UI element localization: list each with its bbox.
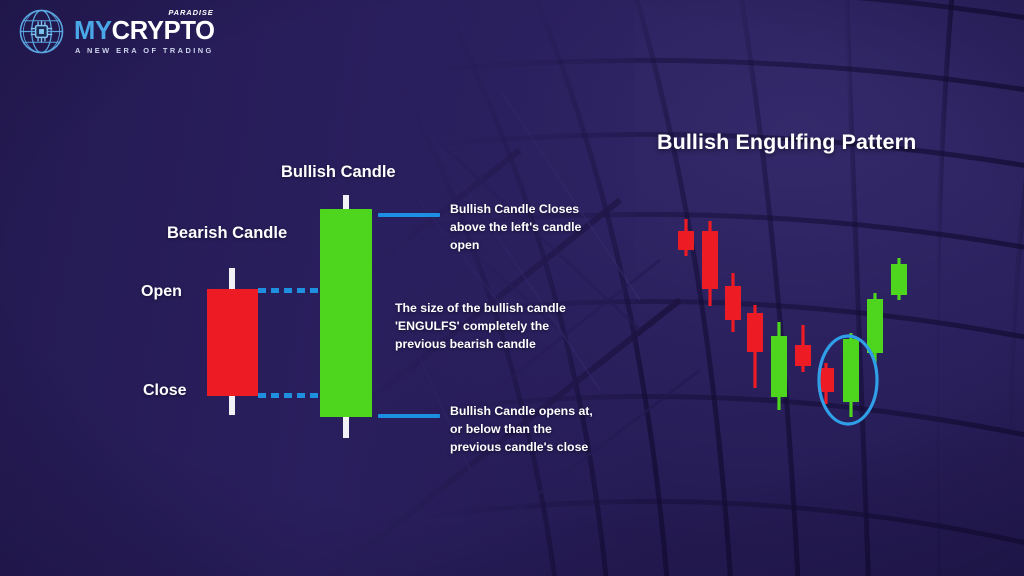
candle-body bbox=[867, 299, 883, 353]
candle-body bbox=[678, 231, 694, 250]
candle-body bbox=[795, 345, 811, 366]
close-level-dashed-line bbox=[258, 393, 321, 398]
bottom-annotation-connector bbox=[378, 414, 440, 418]
candle-body bbox=[891, 264, 907, 295]
candlestick-chart bbox=[650, 195, 950, 440]
close-label: Close bbox=[143, 382, 187, 400]
candle-body bbox=[843, 339, 859, 402]
top-annotation-connector bbox=[378, 213, 440, 217]
candle-body bbox=[702, 231, 718, 289]
annotation-middle-text: The size of the bullish candle 'ENGULFS'… bbox=[395, 299, 600, 353]
bullish-candle-body bbox=[320, 209, 372, 417]
bearish-candle-label: Bearish Candle bbox=[167, 224, 287, 243]
page-title: Bullish Engulfing Pattern bbox=[657, 130, 916, 155]
bullish-candle-lower-wick bbox=[343, 414, 349, 438]
annotation-bottom-text: Bullish Candle opens at, or below than t… bbox=[450, 402, 600, 456]
candle-body bbox=[725, 286, 741, 320]
annotation-top-text: Bullish Candle Closes above the left's c… bbox=[450, 200, 610, 254]
candle-body bbox=[771, 336, 787, 397]
bearish-candle-body bbox=[207, 289, 258, 396]
candle-body bbox=[747, 313, 763, 352]
open-level-dashed-line bbox=[258, 288, 321, 293]
bearish-candle-lower-wick bbox=[229, 393, 235, 415]
slide-canvas: PARADISE MYCRYPTO A NEW ERA OF TRADING B… bbox=[0, 0, 1024, 576]
bullish-candle-label: Bullish Candle bbox=[281, 163, 396, 182]
open-label: Open bbox=[141, 283, 182, 301]
